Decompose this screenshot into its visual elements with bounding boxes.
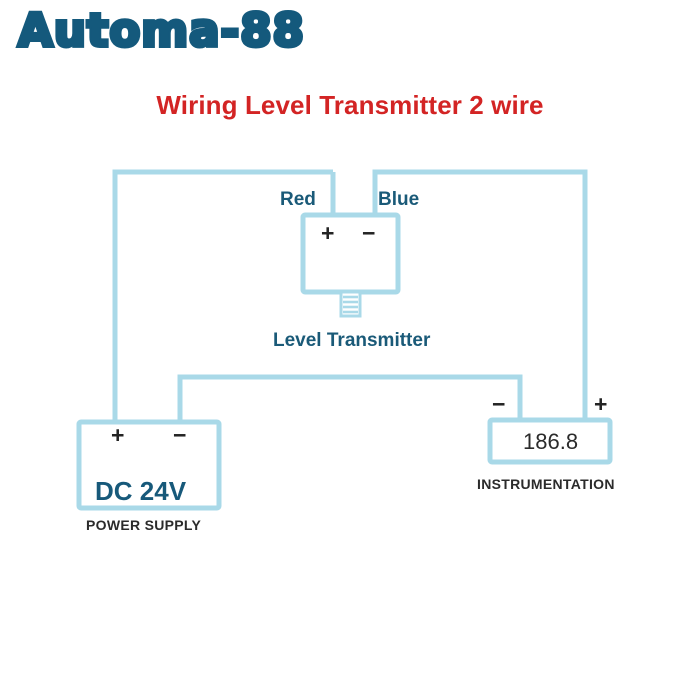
- level-transmitter-box: [303, 215, 398, 292]
- power-supply-caption: POWER SUPPLY: [86, 517, 201, 533]
- instrumentation-reading: 186.8: [523, 429, 578, 455]
- transmitter-terminal-negative: −: [362, 222, 375, 245]
- instrumentation-caption: INSTRUMENTATION: [477, 476, 615, 492]
- wire-supply-negative-instrument-negative: [180, 377, 520, 422]
- wiring-diagram-page: Automa-88 Wiring Level Transmitter 2 wir…: [0, 0, 700, 700]
- instrumentation-terminal-positive: +: [594, 393, 607, 416]
- wire-label-blue: Blue: [378, 189, 419, 211]
- power-supply-voltage-label: DC 24V: [95, 476, 186, 507]
- instrumentation-terminal-negative: −: [492, 393, 505, 416]
- power-supply-terminal-negative: −: [173, 424, 186, 447]
- power-supply-terminal-positive: +: [111, 424, 124, 447]
- transmitter-terminal-positive: +: [321, 222, 334, 245]
- level-transmitter-label: Level Transmitter: [273, 330, 430, 352]
- wire-label-red: Red: [280, 189, 316, 211]
